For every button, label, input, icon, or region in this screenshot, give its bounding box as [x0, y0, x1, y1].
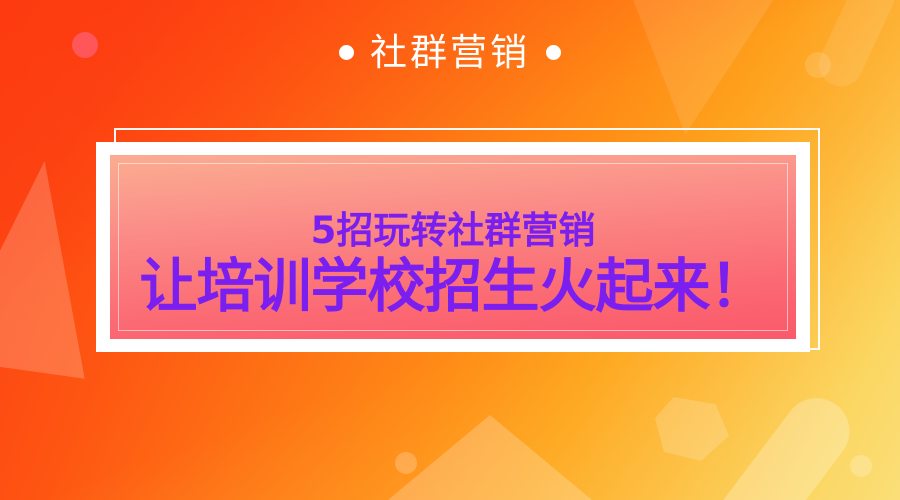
callout-headline: 让培训学校招生火起来！ [139, 255, 766, 318]
callout-text-block: 5招玩转社群营销 让培训学校招生火起来！ [96, 142, 810, 352]
poster-header: 社群营销 [0, 34, 900, 71]
header-title: 社群营销 [370, 34, 530, 71]
callout-speech-bubble: 5招玩转社群营销 让培训学校招生火起来！ [96, 142, 810, 352]
header-right-dot-icon [546, 45, 561, 60]
callout-subheadline: 5招玩转社群营销 [311, 211, 596, 251]
top-triangle-decoration [591, 0, 799, 144]
header-left-dot-icon [339, 45, 354, 60]
faint-circle-bottom-right-decoration [850, 455, 872, 477]
faint-circle-bottom-left-decoration [395, 452, 417, 474]
promo-poster: 社群营销 5招玩转社群营销 让培训学校招生火起来！ [0, 0, 900, 500]
